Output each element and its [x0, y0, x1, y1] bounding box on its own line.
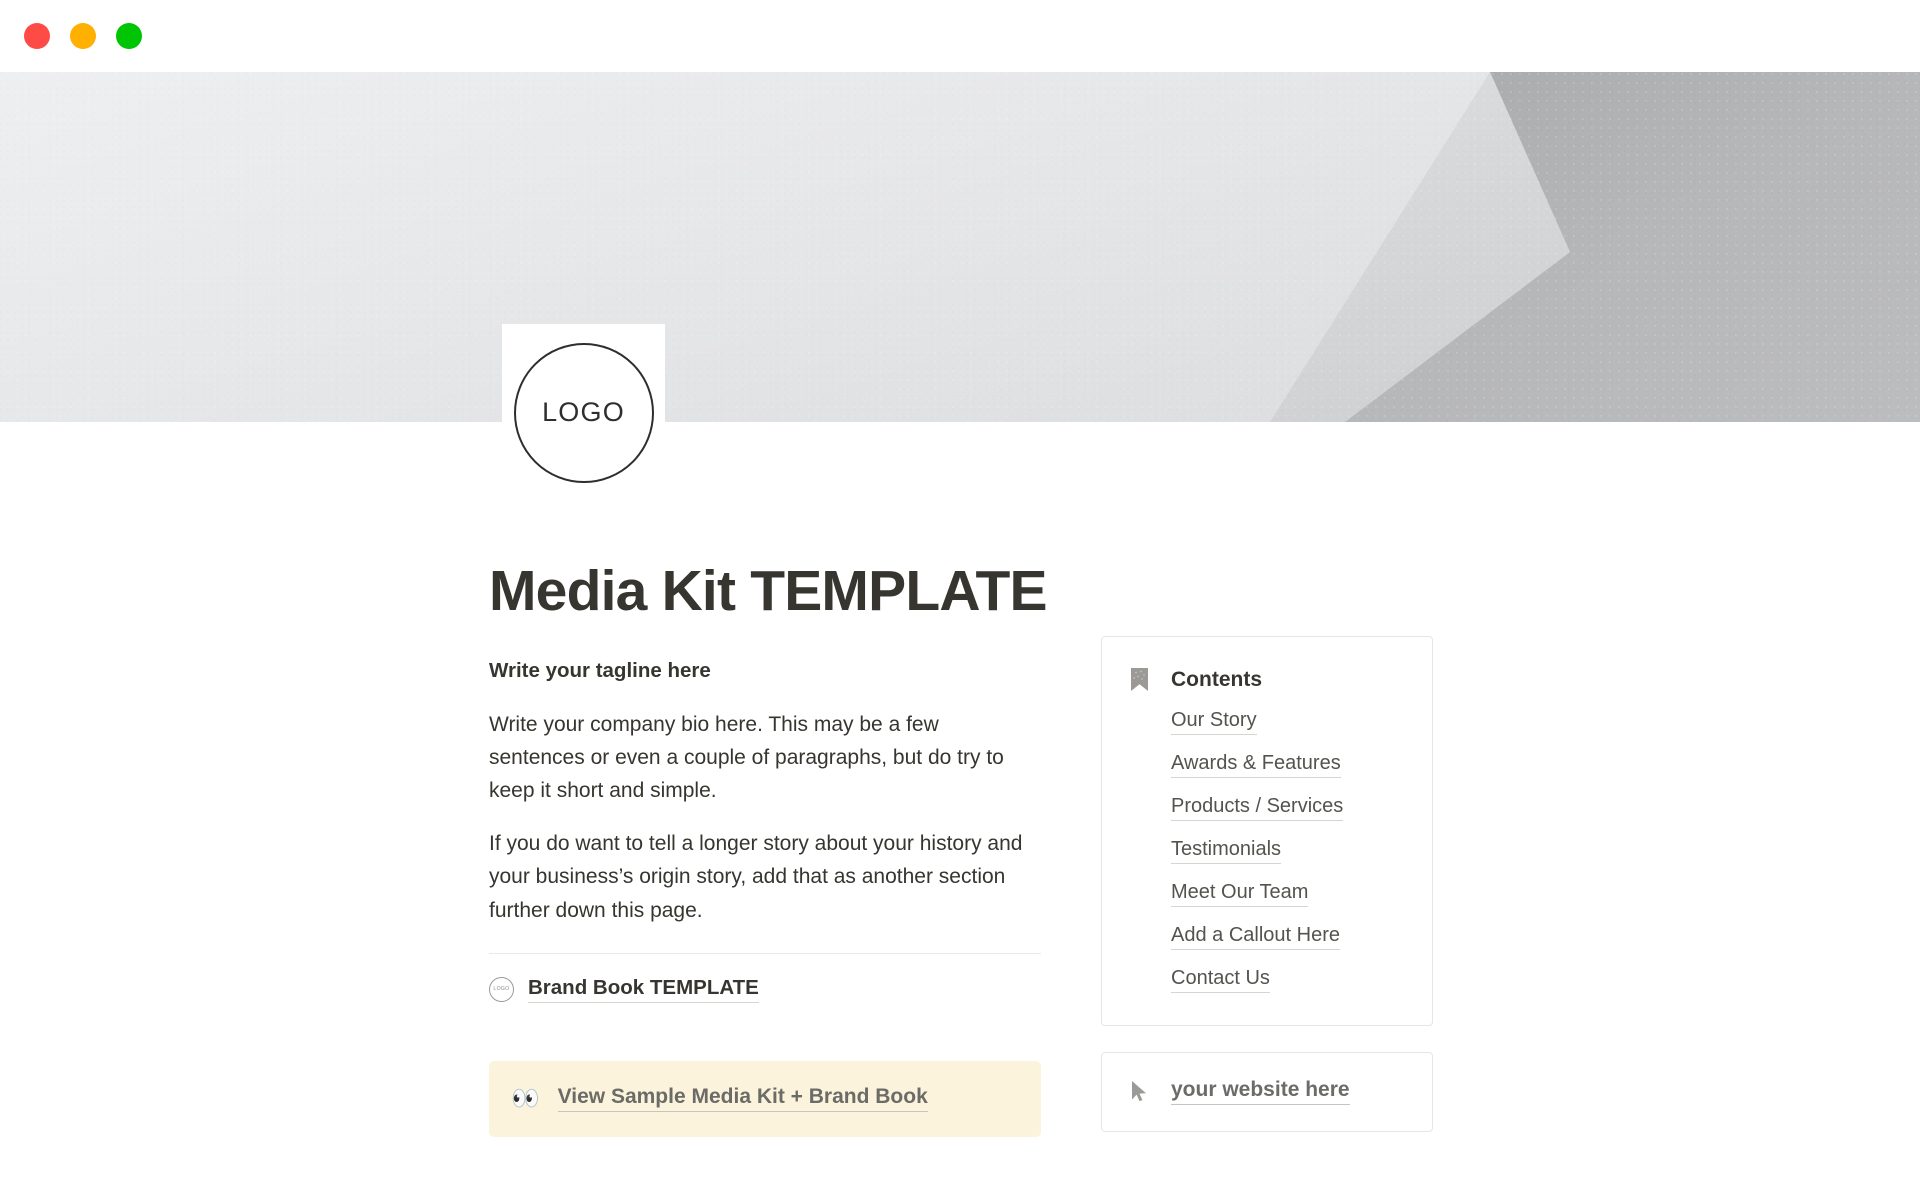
left-column: Write your tagline here Write your compa…	[489, 656, 1041, 1137]
app-window: LOGO Media Kit TEMPLATE Write your tagli…	[0, 0, 1920, 1200]
contents-header: Contents	[1130, 667, 1402, 692]
list-item: Add a Callout Here	[1171, 923, 1402, 950]
bio-paragraph-1[interactable]: Write your company bio here. This may be…	[489, 708, 1037, 808]
contents-link-meet-our-team[interactable]: Meet Our Team	[1171, 880, 1308, 907]
contents-link-add-a-callout[interactable]: Add a Callout Here	[1171, 923, 1340, 950]
cursor-pointer-icon	[1130, 1080, 1149, 1103]
website-link[interactable]: your website here	[1171, 1078, 1350, 1105]
contents-link-products-services[interactable]: Products / Services	[1171, 794, 1343, 821]
mini-logo-icon: LOGO	[489, 977, 514, 1002]
traffic-light-controls	[24, 23, 142, 49]
list-item: Our Story	[1171, 708, 1402, 735]
close-window-button[interactable]	[24, 23, 50, 49]
brand-book-page-link[interactable]: LOGO Brand Book TEMPLATE	[489, 976, 1041, 1003]
minimize-window-button[interactable]	[70, 23, 96, 49]
section-divider	[489, 953, 1041, 954]
page-title[interactable]: Media Kit TEMPLATE	[489, 558, 1047, 625]
tagline-text[interactable]: Write your tagline here	[489, 656, 1041, 687]
sample-callout-block[interactable]: 👀 View Sample Media Kit + Brand Book	[489, 1061, 1041, 1137]
contents-list: Our Story Awards & Features Products / S…	[1130, 708, 1402, 993]
bookmark-icon	[1130, 667, 1149, 692]
right-column: Contents Our Story Awards & Features Pro…	[1101, 636, 1433, 1132]
list-item: Products / Services	[1171, 794, 1402, 821]
list-item: Meet Our Team	[1171, 880, 1402, 907]
logo-circle-icon: LOGO	[514, 343, 654, 483]
window-titlebar	[0, 0, 1920, 72]
list-item: Contact Us	[1171, 966, 1402, 993]
view-sample-link[interactable]: View Sample Media Kit + Brand Book	[558, 1085, 928, 1112]
brand-book-link-label[interactable]: Brand Book TEMPLATE	[528, 976, 759, 1003]
logo-label: LOGO	[542, 397, 625, 428]
page-logo-block[interactable]: LOGO	[502, 324, 665, 487]
contents-title: Contents	[1171, 668, 1262, 692]
cover-geometric-shape	[0, 72, 1920, 422]
list-item: Awards & Features	[1171, 751, 1402, 778]
contents-link-awards-features[interactable]: Awards & Features	[1171, 751, 1341, 778]
maximize-window-button[interactable]	[116, 23, 142, 49]
contents-link-testimonials[interactable]: Testimonials	[1171, 837, 1281, 864]
eyes-icon: 👀	[511, 1087, 540, 1110]
list-item: Testimonials	[1171, 837, 1402, 864]
page-cover-image[interactable]	[0, 72, 1920, 422]
contents-card: Contents Our Story Awards & Features Pro…	[1101, 636, 1433, 1026]
bio-paragraph-2[interactable]: If you do want to tell a longer story ab…	[489, 827, 1037, 927]
contents-link-contact-us[interactable]: Contact Us	[1171, 966, 1270, 993]
website-card[interactable]: your website here	[1101, 1052, 1433, 1132]
contents-link-our-story[interactable]: Our Story	[1171, 708, 1257, 735]
